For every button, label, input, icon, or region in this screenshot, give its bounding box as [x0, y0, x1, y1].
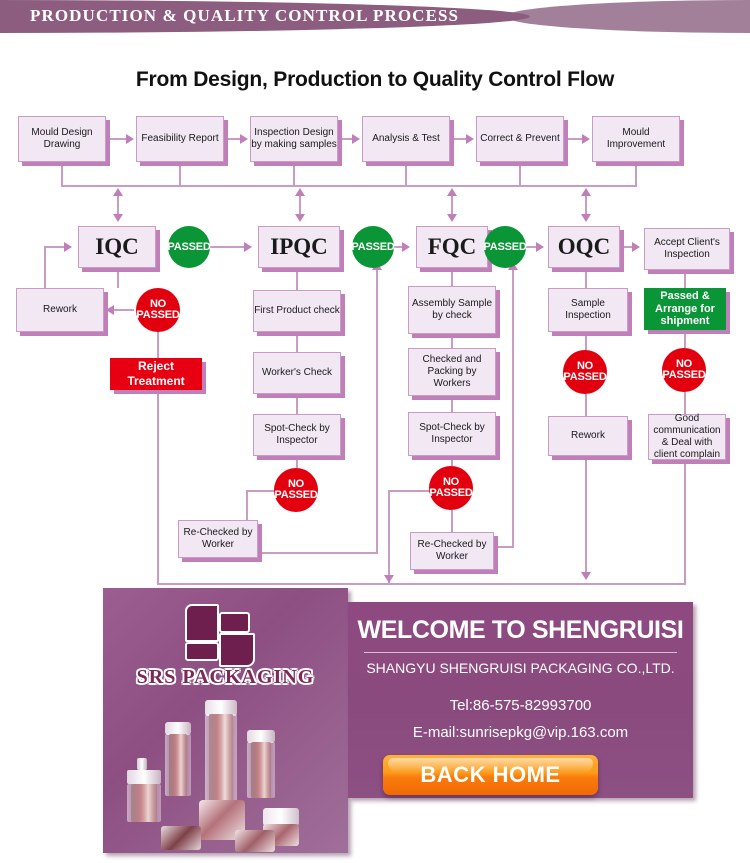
email-address: E-mail:sunrisepkg@vip.163.com	[348, 724, 693, 741]
welcome-heading: WELCOME TO SHENGRUISI	[348, 616, 693, 645]
connector-recheck-ipqc-up	[376, 270, 378, 554]
node-oqc-rework[interactable]: Rework	[548, 416, 628, 456]
arrow-down-iqc	[113, 214, 123, 222]
pump-collar	[127, 770, 161, 784]
connector-ipqc-nopass-h	[246, 490, 276, 492]
stage-label: IQC	[95, 233, 138, 261]
node-label: Accept Client's Inspection	[645, 237, 729, 261]
company-name: SHANGYU SHENGRUISI PACKAGING CO.,LTD.	[348, 660, 693, 676]
badge-label: PASSED	[483, 242, 526, 253]
connector-oqc-1	[585, 268, 587, 288]
footer-panel: SRS PACKAGING	[103, 585, 693, 863]
jar-square-3	[235, 830, 275, 852]
node-label: Rework	[571, 430, 605, 442]
arrow-down-ipqc	[295, 214, 305, 222]
srs-logo-icon	[185, 604, 267, 664]
arrow-nopass-to-rework	[106, 305, 114, 315]
badge-no-passed-fqc: NO PASSED	[429, 466, 473, 510]
connector-fqc-nopass-down	[451, 510, 453, 532]
node-spot-check-ipqc[interactable]: Spot-Check by Inspector	[253, 414, 341, 456]
page-header-banner: PRODUCTION & QUALITY CONTROL PROCESS	[0, 0, 750, 33]
connector-ship-2	[684, 330, 686, 348]
connector-stage-1	[210, 246, 246, 248]
stage-label: FQC	[428, 233, 477, 261]
connector-ship-3	[684, 392, 686, 414]
node-label: Assembly Sample by check	[409, 298, 495, 322]
arrow-stage-4	[632, 242, 640, 252]
connector-ipqc-nopass-v	[246, 490, 248, 520]
connector-ship-1	[684, 270, 686, 288]
stage-label: OQC	[558, 233, 610, 261]
badge-label: NO PASSED	[662, 359, 706, 381]
stage-fqc[interactable]: FQC	[416, 226, 488, 268]
badge-passed-fqc: PASSED	[484, 226, 526, 268]
stage-iqc[interactable]: IQC	[78, 226, 156, 268]
node-reject-treatment[interactable]: Reject Treatment	[110, 358, 202, 390]
node-label: Inspection Design by making samples	[251, 127, 337, 151]
node-label: Re-Checked by Worker	[179, 527, 257, 551]
bus-stub-1	[61, 166, 63, 186]
badge-passed-ipqc: PASSED	[352, 226, 394, 268]
brand-name: SRS PACKAGING	[103, 666, 348, 689]
node-label: First Product check	[254, 305, 340, 317]
node-sample-inspection[interactable]: Sample Inspection	[548, 288, 628, 332]
node-label: Sample Inspection	[549, 298, 627, 322]
arrow-top-3	[352, 134, 360, 144]
connector-iqc-down	[117, 268, 119, 288]
connector-rework-to-iqc-v	[44, 246, 46, 290]
page-title: From Design, Production to Quality Contr…	[0, 68, 750, 92]
node-label: Re-Checked by Worker	[411, 539, 493, 563]
node-label: Spot-Check by Inspector	[254, 423, 340, 447]
node-analysis-test[interactable]: Analysis & Test	[362, 116, 450, 162]
arrow-stage-1	[244, 242, 252, 252]
node-label: Mould Design Drawing	[19, 127, 105, 151]
node-feasibility-report[interactable]: Feasibility Report	[136, 116, 224, 162]
arrow-top-2	[240, 134, 248, 144]
connector-fqc-branch-left-v	[388, 490, 390, 585]
connector-reject-down	[157, 390, 159, 585]
bottle-glass-1	[205, 714, 237, 802]
case-flat	[161, 826, 201, 850]
bottle-glass-2	[165, 734, 191, 796]
bus-stub-2	[179, 166, 181, 186]
node-inspection-design[interactable]: Inspection Design by making samples	[250, 116, 338, 162]
badge-label: NO PASSED	[136, 299, 180, 321]
connector-oqc-3	[585, 394, 587, 416]
node-first-product-check[interactable]: First Product check	[253, 290, 341, 332]
logo-block-3	[185, 642, 219, 661]
node-accept-client-inspection[interactable]: Accept Client's Inspection	[644, 228, 730, 270]
back-home-button[interactable]: BACK HOME	[383, 755, 598, 795]
connector-fqc-2	[451, 334, 453, 348]
connector-ipqc-3	[296, 394, 298, 414]
node-rechecked-by-worker-ipqc[interactable]: Re-Checked by Worker	[178, 520, 258, 558]
stage-ipqc[interactable]: IPQC	[258, 226, 340, 268]
banner-right-shape	[505, 0, 750, 33]
logo-block-4	[219, 633, 255, 667]
badge-label: PASSED	[351, 242, 394, 253]
node-label: Spot-Check by Inspector	[409, 422, 495, 446]
node-spot-check-fqc[interactable]: Spot-Check by Inspector	[408, 412, 496, 456]
stage-oqc[interactable]: OQC	[548, 226, 620, 268]
node-label: Checked and Packing by Workers	[409, 354, 495, 391]
node-label: Feasibility Report	[141, 133, 218, 145]
arrow-top-4	[466, 134, 474, 144]
node-label: Analysis & Test	[372, 133, 440, 145]
node-label: Rework	[43, 304, 77, 316]
badge-label: PASSED	[167, 242, 210, 253]
badge-no-passed-oqc: NO PASSED	[563, 350, 607, 394]
logo-block-1	[185, 604, 219, 642]
connector-nopass-to-reject	[157, 332, 159, 358]
badge-passed-iqc: PASSED	[168, 226, 210, 268]
connector-ship-down	[684, 460, 686, 585]
node-good-communication[interactable]: Good communication & Deal with client co…	[648, 414, 726, 460]
logo-block-2	[219, 612, 250, 633]
arrow-stage-3	[536, 242, 544, 252]
connector-ipqc-2	[296, 332, 298, 352]
badge-no-passed-ipqc: NO PASSED	[274, 468, 318, 512]
connector-ipqc-4	[296, 456, 298, 468]
arrow-fqc-to-bus	[384, 575, 394, 583]
node-correct-prevent[interactable]: Correct & Prevent	[476, 116, 564, 162]
node-checked-and-packing[interactable]: Checked and Packing by Workers	[408, 348, 496, 396]
badge-no-passed-iqc: NO PASSED	[136, 288, 180, 332]
connector-recheck-fqc-up	[512, 270, 514, 548]
bus-stub-4	[405, 166, 407, 186]
node-label: Passed & Arrange for shipment	[645, 290, 725, 328]
bus-stub-6	[635, 166, 637, 186]
connector-recheck-ipqc-out	[258, 552, 378, 554]
node-assembly-sample-by-check[interactable]: Assembly Sample by check	[408, 286, 496, 334]
node-mould-design-drawing[interactable]: Mould Design Drawing	[18, 116, 106, 162]
back-home-label: BACK HOME	[420, 762, 560, 788]
connector-oqc-2	[585, 332, 587, 350]
divider	[364, 652, 677, 653]
node-label: Good communication & Deal with client co…	[649, 413, 725, 462]
connector-fqc-3	[451, 396, 453, 412]
node-label: Mould Improvement	[593, 127, 679, 151]
arrow-down-oqc	[581, 214, 591, 222]
arrow-into-iqc	[64, 242, 72, 252]
connector-recheck-fqc-h	[494, 546, 514, 548]
connector-fqc-4	[451, 456, 453, 466]
arrow-up-oqc	[581, 188, 591, 196]
arrow-stage-2	[402, 242, 410, 252]
node-rechecked-by-worker-fqc[interactable]: Re-Checked by Worker	[410, 532, 494, 570]
arrow-oqc-to-bus	[581, 572, 591, 580]
connector-nopass-to-rework	[112, 309, 134, 311]
node-workers-check[interactable]: Worker's Check	[253, 352, 341, 394]
connector-ipqc-1	[296, 268, 298, 290]
stage-label: IPQC	[270, 233, 328, 261]
arrow-up-fqc	[447, 188, 457, 196]
arrow-up-iqc	[113, 188, 123, 196]
badge-label: NO PASSED	[274, 479, 318, 501]
brand-panel: SRS PACKAGING	[103, 588, 348, 853]
connector-rework-to-iqc-h	[44, 246, 66, 248]
node-mould-improvement[interactable]: Mould Improvement	[592, 116, 680, 162]
badge-label: NO PASSED	[563, 361, 607, 383]
pump-glass	[127, 784, 161, 822]
bus-stub-3	[293, 166, 295, 186]
node-label: Correct & Prevent	[480, 133, 559, 145]
bottle-glass-3	[247, 742, 275, 798]
banner-title: PRODUCTION & QUALITY CONTROL PROCESS	[30, 6, 459, 26]
arrow-down-fqc	[447, 214, 457, 222]
connector-oqc-to-bus	[585, 456, 587, 575]
connector-fqc-1	[451, 268, 453, 286]
node-iqc-rework[interactable]: Rework	[16, 288, 104, 332]
node-label: Worker's Check	[262, 367, 332, 379]
telephone: Tel:86-575-82993700	[348, 697, 693, 714]
bus-stub-5	[519, 166, 521, 186]
arrow-up-ipqc	[295, 188, 305, 196]
bus-horizontal-top	[61, 185, 637, 187]
arrow-top-5	[582, 134, 590, 144]
connector-fqc-branch-left-h	[388, 490, 432, 492]
arrow-top-1	[126, 134, 134, 144]
badge-label: NO PASSED	[429, 477, 473, 499]
node-label: Reject Treatment	[111, 359, 201, 388]
node-passed-arrange-shipment[interactable]: Passed & Arrange for shipment	[644, 288, 726, 330]
product-photo	[117, 700, 337, 852]
pump-head	[137, 758, 147, 770]
badge-no-passed-shipment: NO PASSED	[662, 348, 706, 392]
